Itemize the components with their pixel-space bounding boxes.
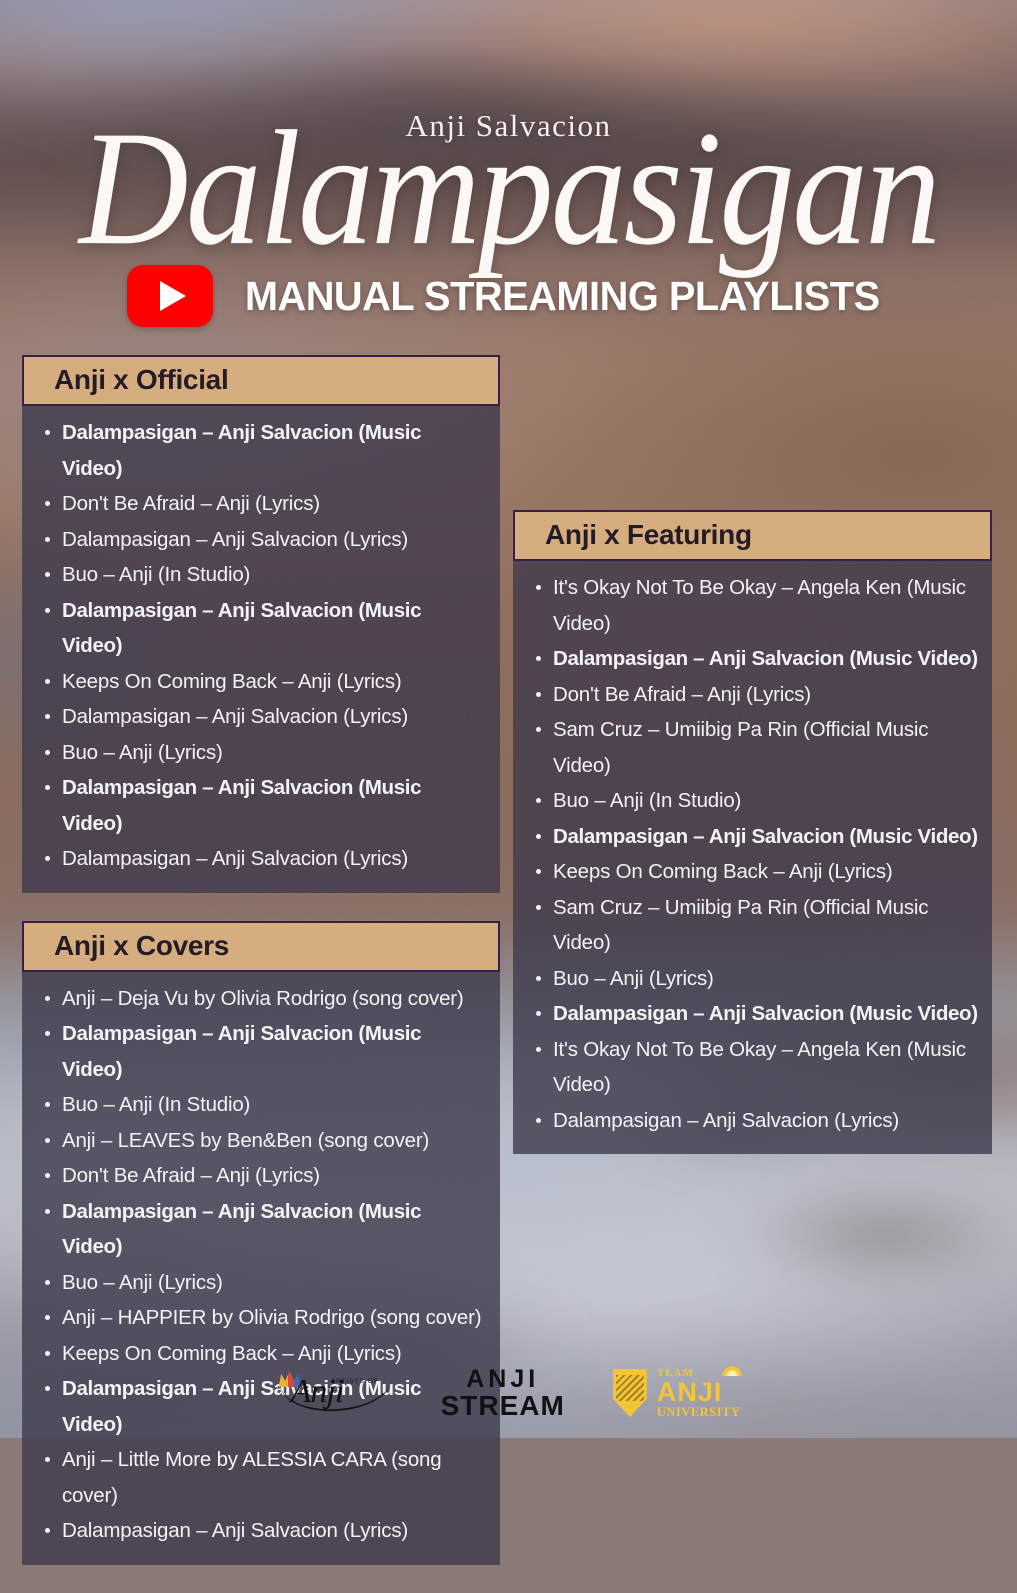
shield-crest-icon — [609, 1369, 651, 1417]
playlist-body-featuring: It's Okay Not To Be Okay – Angela Ken (M… — [513, 561, 992, 1154]
list-item[interactable]: Dalampasigan – Anji Salvacion (Music Vid… — [527, 641, 978, 677]
list-item[interactable]: Dalampasigan – Anji Salvacion (Music Vid… — [36, 1016, 486, 1087]
list-item[interactable]: Anji – Deja Vu by Olivia Rodrigo (song c… — [36, 981, 486, 1017]
anji-stream-line2: STREAM — [441, 1392, 565, 1419]
playlist-body-covers: Anji – Deja Vu by Olivia Rodrigo (song c… — [22, 972, 500, 1565]
sunburst-icon — [720, 1360, 744, 1376]
playlist-list-official: Dalampasigan – Anji Salvacion (Music Vid… — [36, 415, 486, 877]
list-item[interactable]: Dalampasigan – Anji Salvacion (Music Vid… — [36, 415, 486, 486]
list-item[interactable]: Dalampasigan – Anji Salvacion (Lyrics) — [36, 1513, 486, 1549]
list-item[interactable]: It's Okay Not To Be Okay – Angela Ken (M… — [527, 1032, 978, 1103]
list-item[interactable]: Dalampasigan – Anji Salvacion (Lyrics) — [36, 841, 486, 877]
list-item[interactable]: Dalampasigan – Anji Salvacion (Lyrics) — [527, 1103, 978, 1139]
anji-stream-line1: ANJI — [466, 1367, 539, 1392]
list-item[interactable]: Anji – LEAVES by Ben&Ben (song cover) — [36, 1123, 486, 1159]
list-item[interactable]: Dalampasigan – Anji Salvacion (Lyrics) — [36, 699, 486, 735]
playlist-header-covers: Anji x Covers — [22, 921, 500, 972]
playlist-card-featuring: Anji x Featuring It's Okay Not To Be Oka… — [513, 510, 992, 1154]
list-item[interactable]: Keeps On Coming Back – Anji (Lyrics) — [527, 854, 978, 890]
list-item[interactable]: Anji – Little More by ALESSIA CARA (song… — [36, 1442, 486, 1513]
list-item[interactable]: Anji – HAPPIER by Olivia Rodrigo (song c… — [36, 1300, 486, 1336]
page-title: Dalampasigan — [0, 106, 1017, 270]
list-item[interactable]: Don't Be Afraid – Anji (Lyrics) — [36, 486, 486, 522]
list-item[interactable]: Keeps On Coming Back – Anji (Lyrics) — [36, 664, 486, 700]
list-item[interactable]: Dalampasigan – Anji Salvacion (Lyrics) — [36, 522, 486, 558]
anji-stream-logo: ANJI STREAM — [441, 1367, 565, 1419]
playlist-title: Anji x Featuring — [545, 519, 752, 550]
team-anji-university-logo: TEAM ANJI UNIVERSITY — [609, 1368, 741, 1419]
list-item[interactable]: Buo – Anji (Lyrics) — [527, 961, 978, 997]
footer-logos: ARTISTS OF Anji ANJI STREAM TEAM ANJI UN… — [0, 1358, 1017, 1428]
playlist-list-featuring: It's Okay Not To Be Okay – Angela Ken (M… — [527, 570, 978, 1138]
playlist-list-covers: Anji – Deja Vu by Olivia Rodrigo (song c… — [36, 981, 486, 1549]
list-item[interactable]: Buo – Anji (In Studio) — [527, 783, 978, 819]
list-item[interactable]: Don't Be Afraid – Anji (Lyrics) — [36, 1158, 486, 1194]
list-item[interactable]: Don't Be Afraid – Anji (Lyrics) — [527, 677, 978, 713]
cta-row: MANUAL STREAMING PLAYLISTS — [0, 265, 1017, 327]
list-item[interactable]: Dalampasigan – Anji Salvacion (Music Vid… — [527, 996, 978, 1032]
anji-script-label: Anji — [291, 1373, 344, 1411]
list-item[interactable]: Buo – Anji (In Studio) — [36, 557, 486, 593]
playlist-header-featuring: Anji x Featuring — [513, 510, 992, 561]
list-item[interactable]: Buo – Anji (Lyrics) — [36, 1265, 486, 1301]
play-triangle-icon — [160, 281, 186, 311]
playlist-header-official: Anji x Official — [22, 355, 500, 406]
list-item[interactable]: Buo – Anji (Lyrics) — [36, 735, 486, 771]
list-item[interactable]: Dalampasigan – Anji Salvacion (Music Vid… — [36, 1194, 486, 1265]
youtube-play-icon — [127, 265, 213, 327]
poster-header: Anji Salvacion Dalampasigan MANUAL STREA… — [0, 0, 1017, 340]
playlist-title: Anji x Official — [54, 364, 228, 395]
list-item[interactable]: Dalampasigan – Anji Salvacion (Music Vid… — [36, 593, 486, 664]
playlist-card-covers: Anji x Covers Anji – Deja Vu by Olivia R… — [22, 921, 500, 1565]
univ-line3: UNIVERSITY — [657, 1406, 741, 1419]
list-item[interactable]: Sam Cruz – Umiibig Pa Rin (Official Musi… — [527, 890, 978, 961]
playlist-body-official: Dalampasigan – Anji Salvacion (Music Vid… — [22, 406, 500, 893]
right-column: Anji x Featuring It's Okay Not To Be Oka… — [513, 510, 992, 1182]
list-item[interactable]: Sam Cruz – Umiibig Pa Rin (Official Musi… — [527, 712, 978, 783]
list-item[interactable]: Dalampasigan – Anji Salvacion (Music Vid… — [527, 819, 978, 855]
playlist-card-official: Anji x Official Dalampasigan – Anji Salv… — [22, 355, 500, 893]
list-item[interactable]: It's Okay Not To Be Okay – Angela Ken (M… — [527, 570, 978, 641]
list-item[interactable]: Dalampasigan – Anji Salvacion (Music Vid… — [36, 770, 486, 841]
artists-of-anji-logo: ARTISTS OF Anji — [277, 1369, 397, 1417]
team-anji-university-text: TEAM ANJI UNIVERSITY — [657, 1368, 741, 1419]
univ-line2: ANJI — [657, 1379, 741, 1406]
list-item[interactable]: Buo – Anji (In Studio) — [36, 1087, 486, 1123]
playlist-title: Anji x Covers — [54, 930, 229, 961]
cta-label: MANUAL STREAMING PLAYLISTS — [245, 273, 880, 320]
